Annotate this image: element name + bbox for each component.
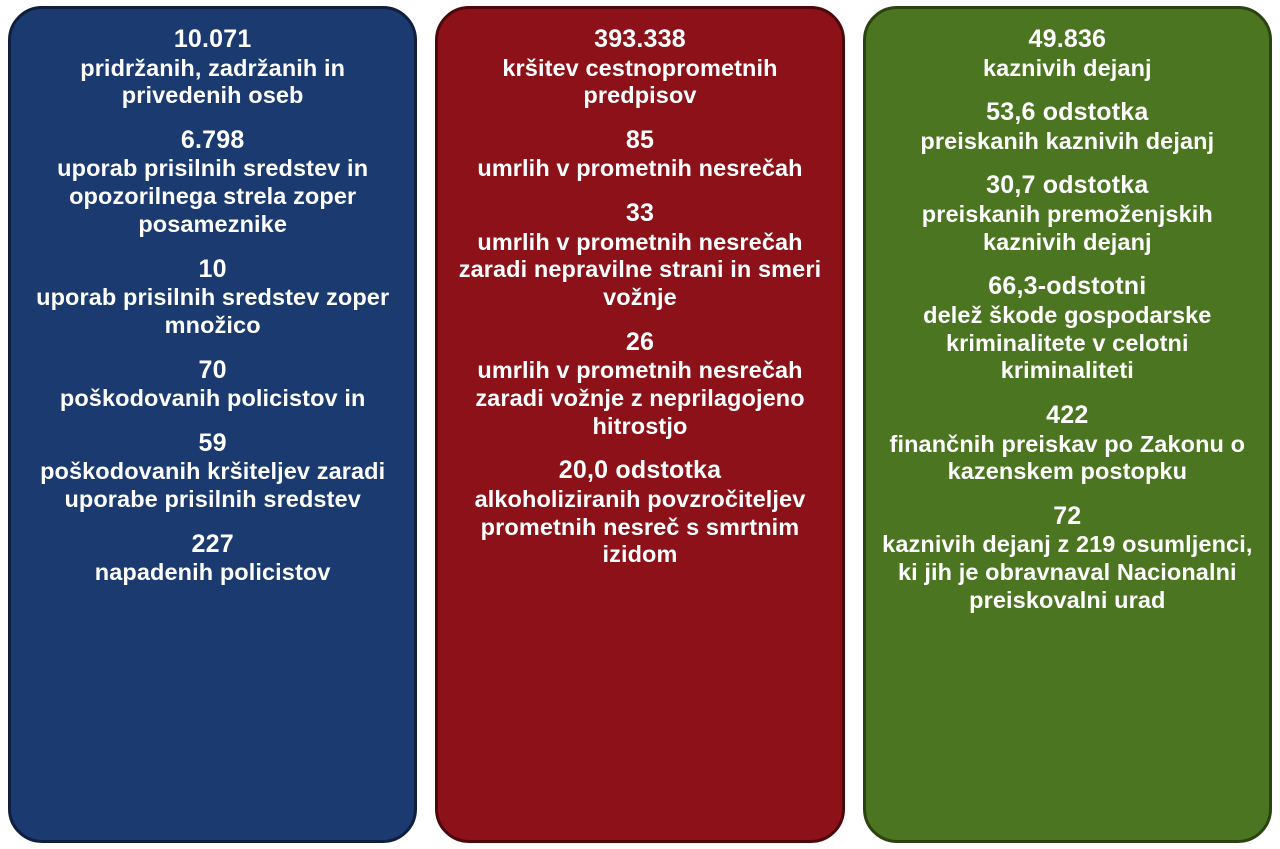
stat-label: kaznivih dejanj z 219 osumljenci, ki jih… [880,531,1255,614]
stat-value: 33 [452,199,827,229]
stat-value: 70 [25,356,400,386]
stat-item: 10.071 pridržanih, zadržanih in priveden… [25,25,400,110]
stat-item: 10 uporab prisilnih sredstev zoper množi… [25,255,400,340]
stat-label: delež škode gospodarske kriminalitete v … [880,302,1255,385]
panel-traffic: 393.338 kršitev cestnoprometnih predpiso… [435,6,844,843]
stat-value: 26 [452,328,827,358]
stat-value: 393.338 [452,25,827,55]
stat-value: 66,3-odstotni [880,272,1255,302]
stat-value: 422 [880,401,1255,431]
stat-item: 85 umrlih v prometnih nesrečah [452,126,827,183]
stat-label: poškodovanih policistov in [25,385,400,413]
stat-label: poškodovanih kršiteljev zaradi uporabe p… [25,458,400,513]
stat-item: 70 poškodovanih policistov in [25,356,400,413]
stat-value: 227 [25,530,400,560]
stat-label: finančnih preiskav po Zakonu o kazenskem… [880,431,1255,486]
stat-item: 72 kaznivih dejanj z 219 osumljenci, ki … [880,502,1255,615]
stat-value: 6.798 [25,126,400,156]
stat-value: 59 [25,429,400,459]
stat-label: preiskanih kaznivih dejanj [880,128,1255,156]
stat-label: umrlih v prometnih nesrečah zaradi vožnj… [452,357,827,440]
stat-value: 49.836 [880,25,1255,55]
stat-label: pridržanih, zadržanih in privedenih oseb [25,55,400,110]
stat-label: umrlih v prometnih nesrečah [452,155,827,183]
stat-label: uporab prisilnih sredstev zoper množico [25,284,400,339]
stat-item: 6.798 uporab prisilnih sredstev in opozo… [25,126,400,239]
stat-label: napadenih policistov [25,559,400,587]
stat-value: 85 [452,126,827,156]
stat-value: 72 [880,502,1255,532]
panel-crime: 49.836 kaznivih dejanj 53,6 odstotka pre… [863,6,1272,843]
stat-item: 20,0 odstotka alkoholiziranih povzročite… [452,456,827,569]
statistics-board: 10.071 pridržanih, zadržanih in priveden… [0,0,1280,849]
stat-label: alkoholiziranih povzročiteljev prometnih… [452,486,827,569]
stat-value: 10 [25,255,400,285]
stat-item: 59 poškodovanih kršiteljev zaradi uporab… [25,429,400,514]
stat-value: 20,0 odstotka [452,456,827,486]
stat-label: kaznivih dejanj [880,55,1255,83]
stat-item: 26 umrlih v prometnih nesrečah zaradi vo… [452,328,827,441]
stat-item: 393.338 kršitev cestnoprometnih predpiso… [452,25,827,110]
stat-label: uporab prisilnih sredstev in opozorilneg… [25,155,400,238]
stat-label: umrlih v prometnih nesrečah zaradi nepra… [452,229,827,312]
stat-item: 422 finančnih preiskav po Zakonu o kazen… [880,401,1255,486]
stat-label: preiskanih premoženjskih kaznivih dejanj [880,201,1255,256]
stat-item: 30,7 odstotka preiskanih premoženjskih k… [880,171,1255,256]
stat-item: 33 umrlih v prometnih nesrečah zaradi ne… [452,199,827,312]
stat-item: 66,3-odstotni delež škode gospodarske kr… [880,272,1255,385]
stat-label: kršitev cestnoprometnih predpisov [452,55,827,110]
stat-item: 227 napadenih policistov [25,530,400,587]
stat-value: 53,6 odstotka [880,98,1255,128]
stat-value: 30,7 odstotka [880,171,1255,201]
panel-police-actions: 10.071 pridržanih, zadržanih in priveden… [8,6,417,843]
stat-item: 49.836 kaznivih dejanj [880,25,1255,82]
stat-value: 10.071 [25,25,400,55]
stat-item: 53,6 odstotka preiskanih kaznivih dejanj [880,98,1255,155]
